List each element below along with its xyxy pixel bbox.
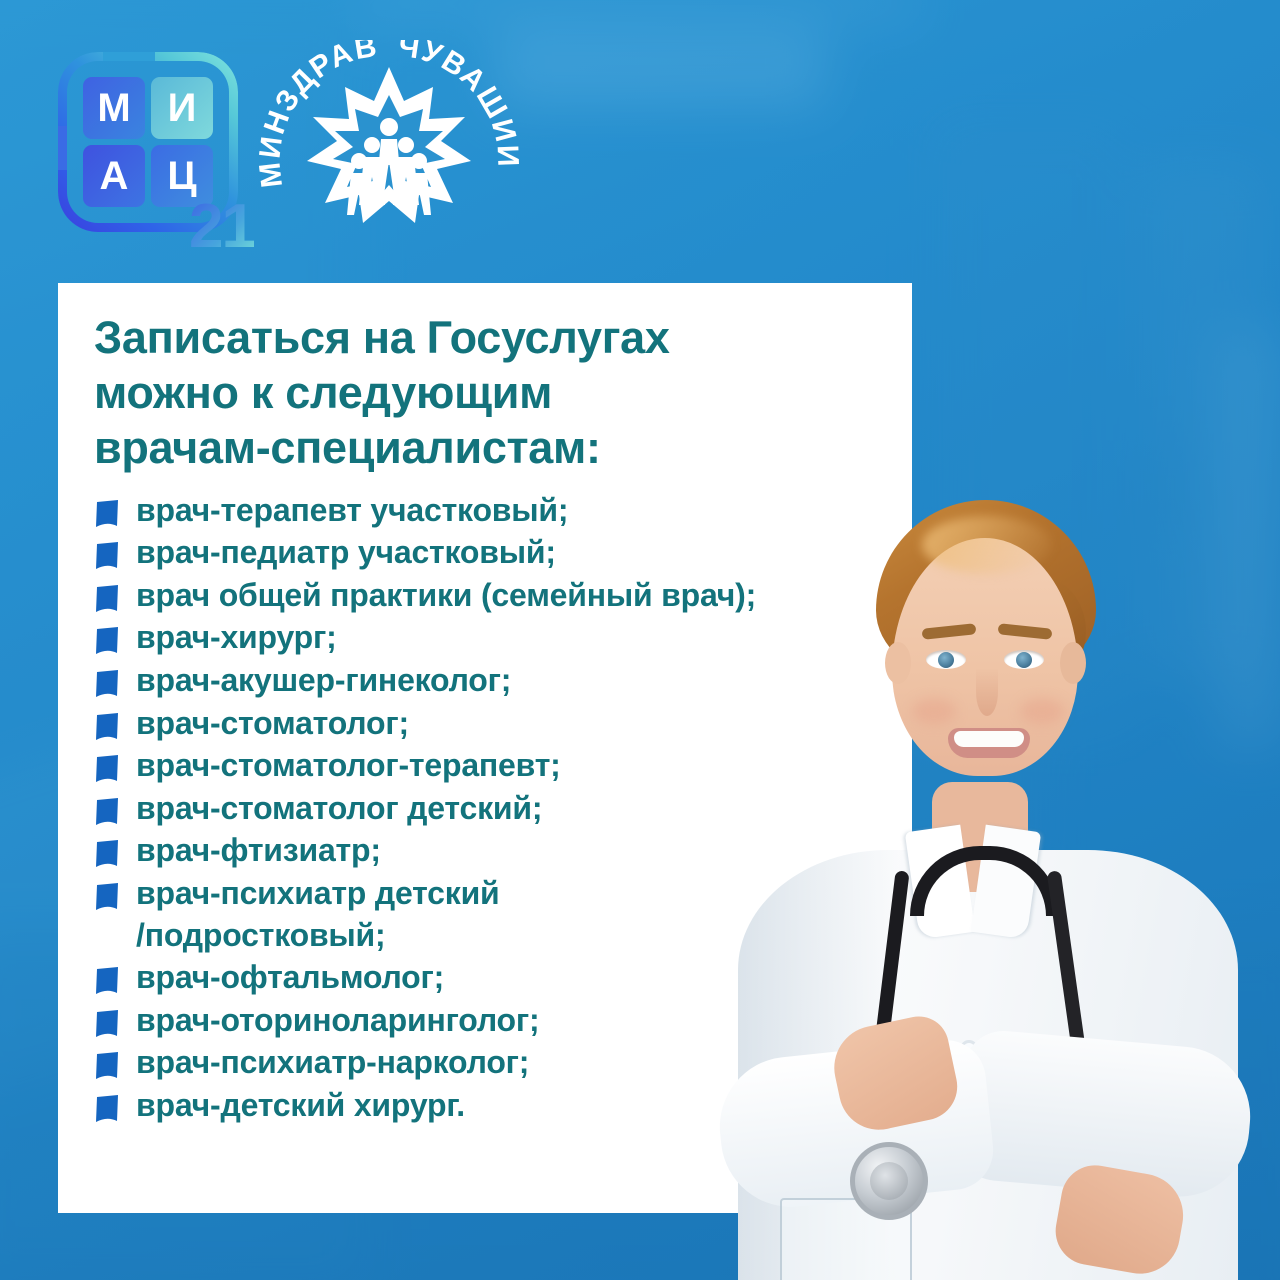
logo-group: М И А Ц 21 МИНЗДРАВ ЧУВАШИИ	[0, 0, 560, 270]
list-item-label: врач-стоматолог;	[136, 703, 409, 745]
banner-bullet-icon	[94, 967, 120, 997]
banner-bullet-icon	[94, 713, 120, 743]
list-item-label: врач-терапевт участковый;	[136, 490, 568, 532]
list-item-label: врач-офтальмолог;	[136, 957, 444, 999]
doctor-photo	[660, 350, 1280, 1280]
banner-bullet-icon	[94, 883, 120, 913]
list-item-label: врач-стоматолог детский;	[136, 788, 542, 830]
list-item-label: врач-оториноларинголог;	[136, 1000, 539, 1042]
miac-letter-a: А	[83, 145, 145, 207]
chuvash-star-icon	[305, 65, 473, 225]
miac21-logo: М И А Ц 21	[58, 52, 238, 232]
banner-bullet-icon	[94, 585, 120, 615]
banner-bullet-icon	[94, 670, 120, 700]
banner-bullet-icon	[94, 1095, 120, 1125]
list-item-label: врач-педиатр участковый;	[136, 532, 556, 574]
banner-bullet-icon	[94, 798, 120, 828]
list-item-label: врач-психиатр детский /подростковый;	[136, 873, 500, 956]
banner-bullet-icon	[94, 755, 120, 785]
miac-letter-grid: М И А Ц	[83, 77, 213, 207]
list-item-label: врач-психиатр-нарколог;	[136, 1042, 529, 1084]
list-item-label: врач-стоматолог-терапевт;	[136, 745, 561, 787]
list-item-label: врач-хирург;	[136, 617, 337, 659]
list-item-label: врач-акушер-гинеколог;	[136, 660, 511, 702]
list-item-label: врач-фтизиатр;	[136, 830, 381, 872]
poster: М И А Ц 21 МИНЗДРАВ ЧУВАШИИ	[0, 0, 1280, 1280]
miac-letter-m: М	[83, 77, 145, 139]
banner-bullet-icon	[94, 840, 120, 870]
banner-bullet-icon	[94, 500, 120, 530]
banner-bullet-icon	[94, 542, 120, 572]
list-item-label: врач-детский хирург.	[136, 1085, 465, 1127]
miac-letter-i: И	[151, 77, 213, 139]
banner-bullet-icon	[94, 1052, 120, 1082]
minzdrav-chuvashii-logo: МИНЗДРАВ ЧУВАШИИ	[258, 40, 520, 250]
banner-bullet-icon	[94, 1010, 120, 1040]
banner-bullet-icon	[94, 627, 120, 657]
miac-region-number: 21	[189, 196, 254, 258]
